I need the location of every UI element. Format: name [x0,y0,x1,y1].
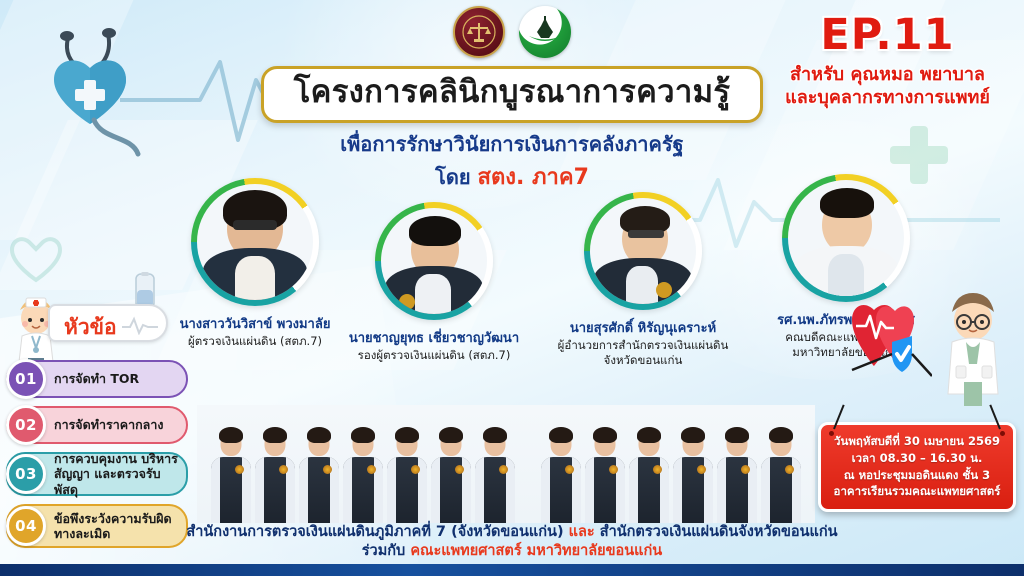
event-time: เวลา 08.30 – 16.30 น. [829,450,1005,467]
footer-org-2: สำนักตรวจเงินแผ่นดินจังหวัดขอนแก่น [600,524,838,540]
hanger-string-right [989,405,1001,430]
subtitle: เพื่อการรักษาวินัยการเงินการคลังภาครัฐ [0,132,1024,157]
topic-label: การจัดทำ TOR [54,371,145,386]
sidebar-item-topic-02[interactable]: 02 การจัดทำราคากลาง [6,406,188,444]
speaker-name: นายชาญยุทธ เชี่ยวชาญวัฒนา [328,327,540,348]
group-member [430,423,473,523]
topic-label-line1: การควบคุมงาน บริหาร [54,451,180,466]
episode-block: EP.11 สำหรับ คุณหมอ พยาบาล และบุคลากรทาง… [765,14,1010,109]
sidebar-item-topic-01[interactable]: 01 การจัดทำ TOR [6,360,188,398]
ekg-line-icon [122,315,158,335]
page-title: โครงการคลินิกบูรณาการความรู้ [294,74,731,111]
avatar [788,180,904,296]
event-venue: ณ หอประชุมมอดินแดง ชั้น 3 [829,467,1005,484]
hanger-string-left [833,405,845,430]
topic-number: 04 [6,506,46,546]
sidebar-header: หัวข้อ [6,300,172,346]
avatar-ring [584,192,702,310]
footer-line-1: สำนักงานการตรวจเงินแผ่นดินภูมิภาคที่ 7 (… [0,523,1024,543]
avatar [197,184,313,300]
group-member [628,423,671,523]
khonkaen-university-logo [519,6,571,58]
group-member [342,423,385,523]
speaker-role-2: จังหวัดขอนแก่น [538,353,748,368]
footer-partner: คณะแพทยศาสตร์ มหาวิทยาลัยขอนแก่น [410,543,662,559]
footer-bar [0,564,1024,576]
group-member [672,423,715,523]
event-building: อาคารเรียนรวมคณะแพทยศาสตร์ [829,483,1005,500]
sidebar-header-plate: หัวข้อ [48,304,168,342]
group-member [474,423,517,523]
event-info-box: วันพฤหัสบดีที่ 30 เมษายน 2569 เวลา 08.30… [818,422,1016,512]
speaker-role: ผู้อำนวยการสำนักตรวจเงินแผ่นดิน [538,338,748,353]
heart-outline-icon [8,230,64,286]
group-member [760,423,803,523]
topic-number: 01 [6,359,46,399]
avatar [590,198,696,304]
screw-icon [1000,431,1005,436]
event-date: วันพฤหัสบดีที่ 30 เมษายน 2569 [829,433,1005,450]
speaker-card: นายสุรศักดิ์ หิรัญนุเคราะห์ ผู้อำนวยการส… [538,192,748,368]
group-member [210,423,253,523]
speaker-card: นายชาญยุทธ เชี่ยวชาญวัฒนา รองผู้ตรวจเงิน… [328,202,540,363]
speaker-role: รองผู้ตรวจเงินแผ่นดิน (สตภ.7) [328,348,540,363]
topic-label: การจัดทำราคากลาง [54,417,169,432]
group-member [254,423,297,523]
sidebar-item-topic-03[interactable]: 03 การควบคุมงาน บริหาร สัญญา และตรวจรับพ… [6,452,188,496]
poster-canvas: โครงการคลินิกบูรณาการความรู้ เพื่อการรัก… [0,0,1024,576]
group-photo [197,405,815,523]
avatar-ring [191,178,319,306]
footer-line-2: ร่วมกับ คณะแพทยศาสตร์ มหาวิทยาลัยขอนแก่น [0,542,1024,562]
screw-icon [829,431,834,436]
topic-number: 03 [6,454,46,494]
footer-org-1: สำนักงานการตรวจเงินแผ่นดินภูมิภาคที่ 7 (… [186,524,563,540]
avatar-ring [782,174,910,302]
speaker-row: นางสาววันวิสาข์ พวงมาลัย ผู้ตรวจเงินแผ่น… [150,178,950,398]
episode-number: EP.11 [765,14,1010,57]
group-member [298,423,341,523]
topic-number: 02 [6,405,46,445]
oag-seal-logo [453,6,505,58]
footer: สำนักงานการตรวจเงินแผ่นดินภูมิภาคที่ 7 (… [0,523,1024,562]
heart-shield-icon [850,292,932,382]
episode-audience-line1: สำหรับ คุณหมอ พยาบาล [765,63,1010,86]
avatar [381,208,487,314]
episode-audience-line2: และบุคลากรทางการแพทย์ [765,86,1010,109]
footer-conjunction: และ [569,524,595,540]
group-member [540,423,583,523]
group-member [584,423,627,523]
doctor-character-icon [938,288,1008,406]
sidebar-header-label: หัวข้อ [64,311,117,344]
topic-label-line2: สัญญา และตรวจรับพัสดุ [54,466,180,497]
group-member [716,423,759,523]
footer-with-label: ร่วมกับ [362,543,405,559]
group-member [386,423,429,523]
speaker-name: นายสุรศักดิ์ หิรัญนุเคราะห์ [538,317,748,338]
topic-label: การควบคุมงาน บริหาร สัญญา และตรวจรับพัสด… [54,451,186,497]
avatar-ring [375,202,493,320]
title-plate: โครงการคลินิกบูรณาการความรู้ [261,66,764,123]
